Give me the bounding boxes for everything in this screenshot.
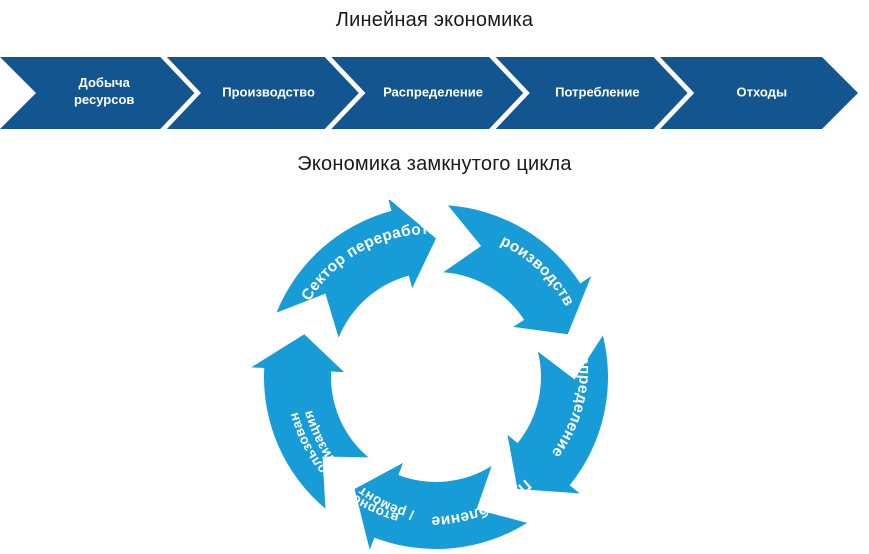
circular-economy-title: Экономика замкнутого цикла [0, 153, 869, 176]
circular-economy-loop: Сектор переработкиПроизводствоРаспределе… [250, 200, 622, 554]
ring-segment-5 [277, 200, 436, 338]
linear-step-label-5: Отходы [737, 84, 788, 99]
ring-segment-1 [443, 205, 591, 334]
linear-step-label-2: Производство [222, 84, 315, 99]
linear-step-label-3: Распределение [383, 84, 483, 99]
linear-economy-title: Линейная экономика [0, 9, 869, 32]
linear-step-label-4: Потребление [555, 84, 639, 99]
ring-segment-2 [507, 335, 608, 493]
linear-economy-process: ДобычаресурсовПроизводствоРаспределениеП… [0, 57, 869, 129]
